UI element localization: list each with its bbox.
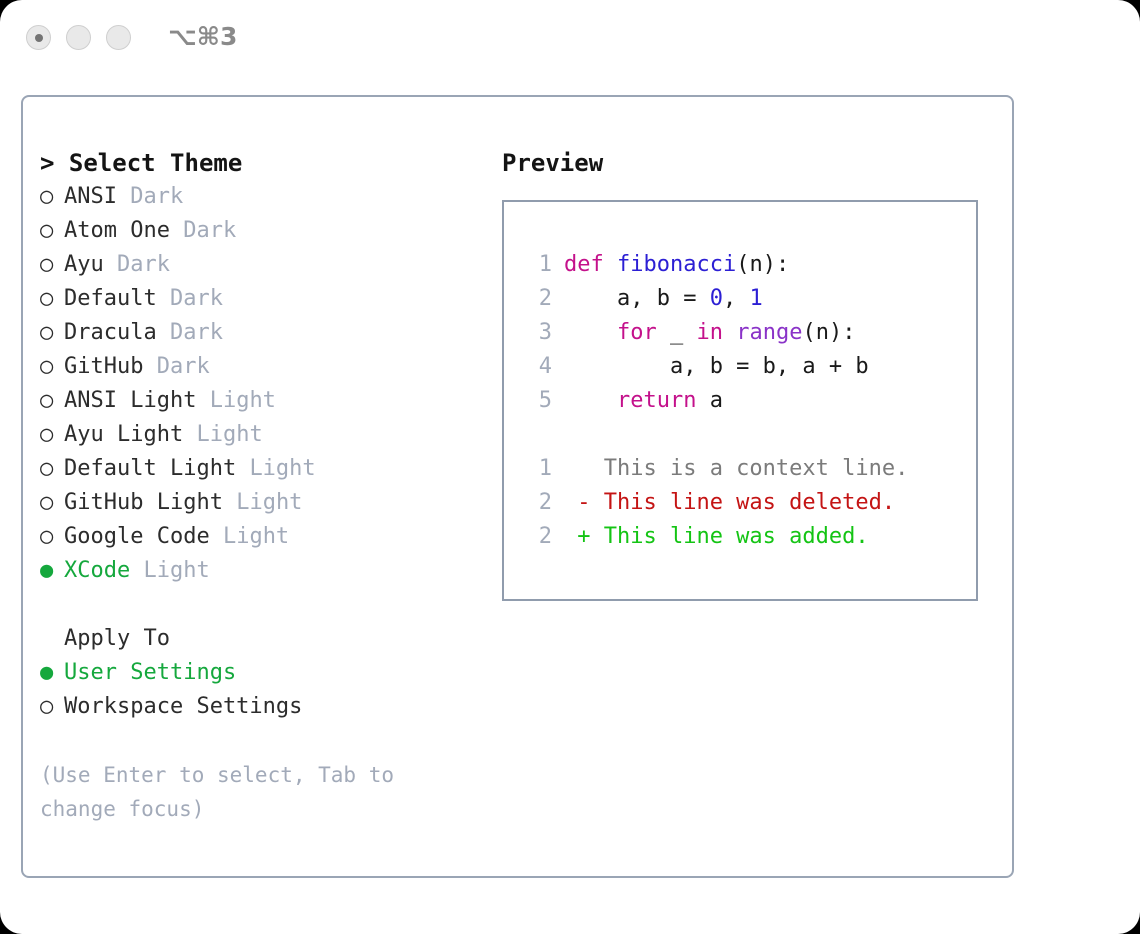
diff-line-text: This is a context line. xyxy=(564,456,908,481)
theme-option-kind-badge: Light xyxy=(249,456,315,481)
code-token-punct: , xyxy=(723,286,750,311)
line-number: 2 xyxy=(522,486,552,520)
line-number: 3 xyxy=(522,316,552,350)
code-token-kw: return xyxy=(617,388,696,413)
theme-option-default-light[interactable]: ○Default Light Light xyxy=(40,452,480,486)
theme-option-name: Ayu xyxy=(64,252,104,277)
theme-option-name: Google Code xyxy=(64,524,210,549)
theme-option-kind-badge: Light xyxy=(236,490,302,515)
code-token-punct: ): xyxy=(829,320,856,345)
window-dot-3-icon[interactable] xyxy=(106,25,131,50)
radio-unselected-icon: ○ xyxy=(40,384,64,418)
apply-to-section: Apply To ●User Settings○Workspace Settin… xyxy=(40,622,480,724)
theme-option-kind-badge: Dark xyxy=(183,218,236,243)
theme-option-kind-badge: Dark xyxy=(130,184,183,209)
theme-option-name: Default xyxy=(64,286,157,311)
theme-option-kind-badge: Dark xyxy=(170,320,223,345)
select-theme-heading: > Select Theme xyxy=(40,146,480,180)
theme-option-list[interactable]: ○ANSI Dark○Atom One Dark○Ayu Dark○Defaul… xyxy=(40,180,480,588)
theme-option-github-light[interactable]: ○GitHub Light Light xyxy=(40,486,480,520)
apply-to-heading: Apply To xyxy=(40,622,480,656)
theme-option-name: Atom One xyxy=(64,218,170,243)
code-line: 1def fibonacci(n): xyxy=(522,248,976,282)
diff-line-ctx: 1 This is a context line. xyxy=(522,452,976,486)
theme-option-kind-badge: Dark xyxy=(157,354,210,379)
code-token-id: a, b = b, a + b xyxy=(564,354,869,379)
line-number: 1 xyxy=(522,248,552,282)
theme-option-github[interactable]: ○GitHub Dark xyxy=(40,350,480,384)
code-token-punct xyxy=(604,252,617,277)
code-token-kw: def xyxy=(564,252,604,277)
title-bar: ⌥⌘3 xyxy=(0,0,1140,78)
code-token-id: _ xyxy=(657,320,697,345)
theme-option-name: Dracula xyxy=(64,320,157,345)
diff-line-text: + This line was added. xyxy=(564,524,869,549)
diff-line-del: 2 - This line was deleted. xyxy=(522,486,976,520)
theme-option-kind-badge: Light xyxy=(143,558,209,583)
theme-option-kind-badge: Light xyxy=(210,388,276,413)
theme-option-kind-badge: Dark xyxy=(170,286,223,311)
code-token-fn: fibonacci xyxy=(617,252,736,277)
theme-option-ansi[interactable]: ○ANSI Dark xyxy=(40,180,480,214)
code-token-id: a, b = xyxy=(564,286,710,311)
code-preview-box: 1def fibonacci(n):2 a, b = 0, 13 for _ i… xyxy=(502,200,978,601)
window-dot-active-icon[interactable] xyxy=(26,25,51,50)
theme-option-ayu[interactable]: ○Ayu Dark xyxy=(40,248,480,282)
theme-selector-column: > Select Theme ○ANSI Dark○Atom One Dark○… xyxy=(40,146,480,826)
theme-option-name: GitHub xyxy=(64,354,143,379)
main-panel: > Select Theme ○ANSI Dark○Atom One Dark○… xyxy=(21,95,1014,878)
apply-to-option-name: Workspace Settings xyxy=(64,694,302,719)
keyboard-hint-text: (Use Enter to select, Tab to change focu… xyxy=(40,758,450,826)
radio-unselected-icon: ○ xyxy=(40,214,64,248)
theme-option-ayu-light[interactable]: ○Ayu Light Light xyxy=(40,418,480,452)
code-line: 2 a, b = 0, 1 xyxy=(522,282,976,316)
radio-unselected-icon: ○ xyxy=(40,520,64,554)
radio-selected-icon: ● xyxy=(40,656,64,690)
code-token-punct xyxy=(564,388,617,413)
code-line: 4 a, b = b, a + b xyxy=(522,350,976,384)
radio-selected-icon: ● xyxy=(40,554,64,588)
line-number: 4 xyxy=(522,350,552,384)
radio-unselected-icon: ○ xyxy=(40,248,64,282)
diff-line-add: 2 + This line was added. xyxy=(522,520,976,554)
window-dot-active-inner-icon xyxy=(35,34,43,42)
code-token-punct: ( xyxy=(736,252,749,277)
theme-option-kind-badge: Light xyxy=(196,422,262,447)
code-line: 3 for _ in range(n): xyxy=(522,316,976,350)
code-token-num: 0 xyxy=(710,286,723,311)
line-number: 5 xyxy=(522,384,552,418)
theme-option-name: Ayu Light xyxy=(64,422,183,447)
radio-unselected-icon: ○ xyxy=(40,452,64,486)
theme-option-dracula[interactable]: ○Dracula Dark xyxy=(40,316,480,350)
code-spacer xyxy=(522,418,976,452)
code-token-punct xyxy=(564,320,617,345)
line-number: 1 xyxy=(522,452,552,486)
theme-option-kind-badge: Light xyxy=(223,524,289,549)
code-token-punct: ( xyxy=(802,320,815,345)
theme-option-atom-one[interactable]: ○Atom One Dark xyxy=(40,214,480,248)
preview-heading: Preview xyxy=(502,146,992,180)
theme-option-kind-badge: Dark xyxy=(117,252,170,277)
code-token-id: n xyxy=(816,320,829,345)
preview-column: Preview 1def fibonacci(n):2 a, b = 0, 13… xyxy=(502,146,992,601)
code-token-kw: for xyxy=(617,320,657,345)
theme-option-google-code[interactable]: ○Google Code Light xyxy=(40,520,480,554)
code-token-num: 1 xyxy=(749,286,762,311)
radio-unselected-icon: ○ xyxy=(40,180,64,214)
code-token-id: n xyxy=(749,252,762,277)
diff-preview: 1 This is a context line.2 - This line w… xyxy=(522,452,976,554)
apply-to-option-user-settings[interactable]: ●User Settings xyxy=(40,656,480,690)
code-token-kw: in xyxy=(696,320,723,345)
theme-option-name: ANSI xyxy=(64,184,117,209)
line-number: 2 xyxy=(522,520,552,554)
window-dot-2-icon[interactable] xyxy=(66,25,91,50)
code-token-punct xyxy=(723,320,736,345)
theme-option-name: Default Light xyxy=(64,456,236,481)
theme-option-name: GitHub Light xyxy=(64,490,223,515)
radio-unselected-icon: ○ xyxy=(40,418,64,452)
diff-line-text: - This line was deleted. xyxy=(564,490,895,515)
theme-option-ansi-light[interactable]: ○ANSI Light Light xyxy=(40,384,480,418)
code-snippet: 1def fibonacci(n):2 a, b = 0, 13 for _ i… xyxy=(522,248,976,418)
code-token-punct: ): xyxy=(763,252,790,277)
apply-to-option-list[interactable]: ●User Settings○Workspace Settings xyxy=(40,656,480,724)
code-token-id: a xyxy=(696,388,723,413)
code-token-bi: range xyxy=(736,320,802,345)
code-line: 5 return a xyxy=(522,384,976,418)
app-window: ⌥⌘3 > Select Theme ○ANSI Dark○Atom One D… xyxy=(0,0,1140,934)
theme-option-name: ANSI Light xyxy=(64,388,196,413)
radio-unselected-icon: ○ xyxy=(40,350,64,384)
theme-option-name: XCode xyxy=(64,558,130,583)
line-number: 2 xyxy=(522,282,552,316)
keyboard-shortcut-label: ⌥⌘3 xyxy=(168,22,237,51)
radio-unselected-icon: ○ xyxy=(40,282,64,316)
theme-option-default[interactable]: ○Default Dark xyxy=(40,282,480,316)
radio-unselected-icon: ○ xyxy=(40,486,64,520)
apply-to-option-name: User Settings xyxy=(64,660,236,685)
apply-to-option-workspace-settings[interactable]: ○Workspace Settings xyxy=(40,690,480,724)
radio-unselected-icon: ○ xyxy=(40,690,64,724)
theme-option-xcode[interactable]: ●XCode Light xyxy=(40,554,480,588)
radio-unselected-icon: ○ xyxy=(40,316,64,350)
